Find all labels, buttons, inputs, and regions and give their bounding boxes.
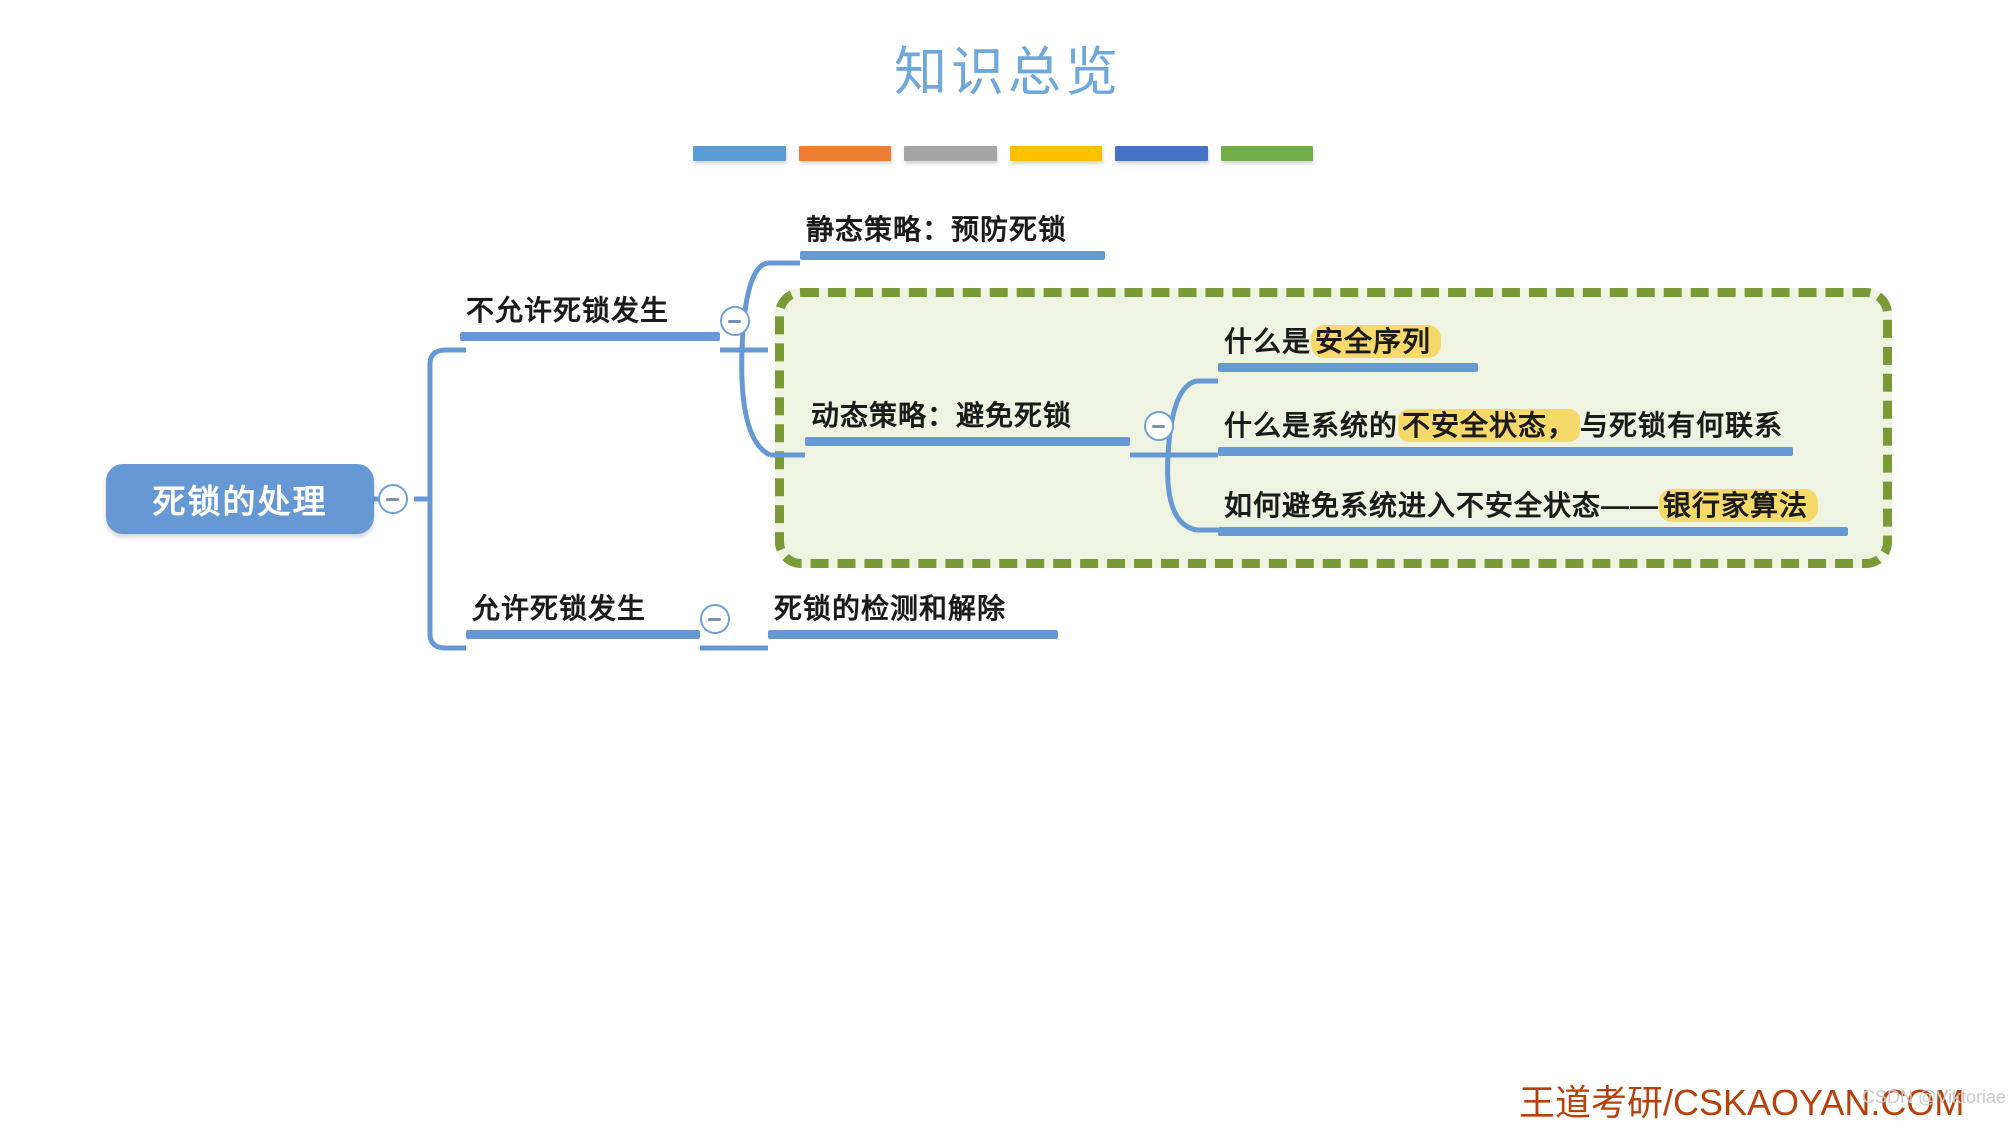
node-what-is-safe-sequence[interactable]: 什么是安全序列 bbox=[1218, 325, 1478, 372]
node-what-is-safe-sequence-label: 什么是安全序列 bbox=[1218, 325, 1478, 363]
node-no-deadlock-underline bbox=[460, 332, 720, 341]
node-dynamic-strategy[interactable]: 动态策略：避免死锁 bbox=[805, 399, 1130, 446]
highlight-unsafe-state: 不安全状态， bbox=[1398, 409, 1580, 442]
node-static-strategy[interactable]: 静态策略：预防死锁 bbox=[800, 213, 1105, 260]
highlight-safe-sequence: 安全序列 bbox=[1311, 325, 1441, 358]
bar-gold bbox=[1010, 146, 1103, 161]
node-allow-deadlock-underline bbox=[466, 630, 700, 639]
text-plain-2a: 什么是系统的 bbox=[1224, 410, 1398, 441]
bar-orange bbox=[799, 146, 892, 161]
text-plain-1: 什么是 bbox=[1224, 326, 1311, 357]
node-dynamic-strategy-label: 动态策略：避免死锁 bbox=[805, 399, 1130, 437]
node-dynamic-strategy-underline bbox=[805, 437, 1130, 446]
bar-blue-dark bbox=[1115, 146, 1208, 161]
root-node[interactable]: 死锁的处理 bbox=[106, 464, 374, 534]
bar-gray bbox=[904, 146, 997, 161]
color-bar-strip bbox=[693, 146, 1313, 162]
page-title: 知识总览 bbox=[0, 42, 2016, 104]
node-what-is-unsafe-state[interactable]: 什么是系统的不安全状态，与死锁有何联系 bbox=[1218, 409, 1793, 456]
node-allow-deadlock[interactable]: 允许死锁发生 bbox=[466, 592, 700, 639]
node-no-deadlock-label: 不允许死锁发生 bbox=[460, 294, 720, 332]
csdn-watermark: CSDN @Viktoriae bbox=[1862, 1087, 2006, 1108]
no-deadlock-collapse-toggle-icon[interactable] bbox=[720, 306, 750, 336]
node-what-is-safe-sequence-underline bbox=[1218, 363, 1478, 372]
node-detect-and-release-underline bbox=[768, 630, 1058, 639]
slide-canvas: 知识总览 死锁的处理 bbox=[0, 0, 2016, 1126]
node-what-is-unsafe-state-underline bbox=[1218, 447, 1793, 456]
node-bankers-algorithm-label: 如何避免系统进入不安全状态——银行家算法 bbox=[1218, 489, 1848, 527]
highlight-bankers-algorithm: 银行家算法 bbox=[1659, 489, 1818, 522]
text-plain-3: 如何避免系统进入不安全状态—— bbox=[1224, 490, 1659, 521]
node-detect-and-release[interactable]: 死锁的检测和解除 bbox=[768, 592, 1058, 639]
node-what-is-unsafe-state-label: 什么是系统的不安全状态，与死锁有何联系 bbox=[1218, 409, 1793, 447]
node-bankers-algorithm-underline bbox=[1218, 527, 1848, 536]
text-plain-2b: 与死锁有何联系 bbox=[1580, 410, 1783, 441]
allow-deadlock-collapse-toggle-icon[interactable] bbox=[700, 604, 730, 634]
node-detect-and-release-label: 死锁的检测和解除 bbox=[768, 592, 1058, 630]
root-collapse-toggle-icon[interactable] bbox=[378, 484, 408, 514]
bar-green bbox=[1221, 146, 1314, 161]
node-static-strategy-underline bbox=[800, 251, 1105, 260]
node-static-strategy-label: 静态策略：预防死锁 bbox=[800, 213, 1105, 251]
bar-blue-light bbox=[693, 146, 786, 161]
root-node-label: 死锁的处理 bbox=[153, 475, 328, 523]
node-bankers-algorithm[interactable]: 如何避免系统进入不安全状态——银行家算法 bbox=[1218, 489, 1848, 536]
node-no-deadlock[interactable]: 不允许死锁发生 bbox=[460, 294, 720, 341]
node-allow-deadlock-label: 允许死锁发生 bbox=[466, 592, 700, 630]
dynamic-strategy-collapse-toggle-icon[interactable] bbox=[1144, 411, 1174, 441]
